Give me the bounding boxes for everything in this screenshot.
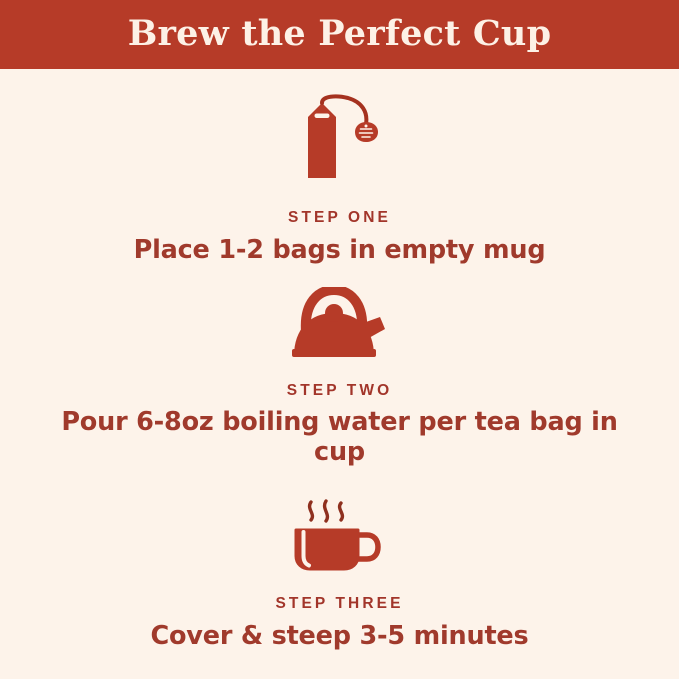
header-bar: Brew the Perfect Cup bbox=[0, 0, 679, 69]
step-three-text: Cover & steep 3-5 minutes bbox=[150, 621, 528, 651]
step-two-label: STEP TWO bbox=[287, 383, 392, 399]
tea-bag-icon bbox=[288, 94, 392, 186]
page-title: Brew the Perfect Cup bbox=[128, 16, 552, 53]
step-one: STEP ONE Place 1-2 bags in empty mug bbox=[0, 69, 679, 265]
step-three: STEP THREE Cover & steep 3-5 minutes bbox=[0, 467, 679, 651]
step-one-text: Place 1-2 bags in empty mug bbox=[134, 235, 546, 265]
step-one-label: STEP ONE bbox=[288, 210, 391, 226]
steaming-mug-icon bbox=[288, 492, 392, 572]
brew-guide-infographic: Brew the Perfect Cup bbox=[0, 0, 679, 679]
step-three-label: STEP THREE bbox=[275, 596, 403, 612]
step-two: STEP TWO Pour 6-8oz boiling water per te… bbox=[0, 265, 679, 468]
step-two-text: Pour 6-8oz boiling water per tea bag in … bbox=[60, 407, 620, 467]
kettle-icon bbox=[288, 287, 392, 359]
steps-list: STEP ONE Place 1-2 bags in empty mug bbox=[0, 69, 679, 679]
